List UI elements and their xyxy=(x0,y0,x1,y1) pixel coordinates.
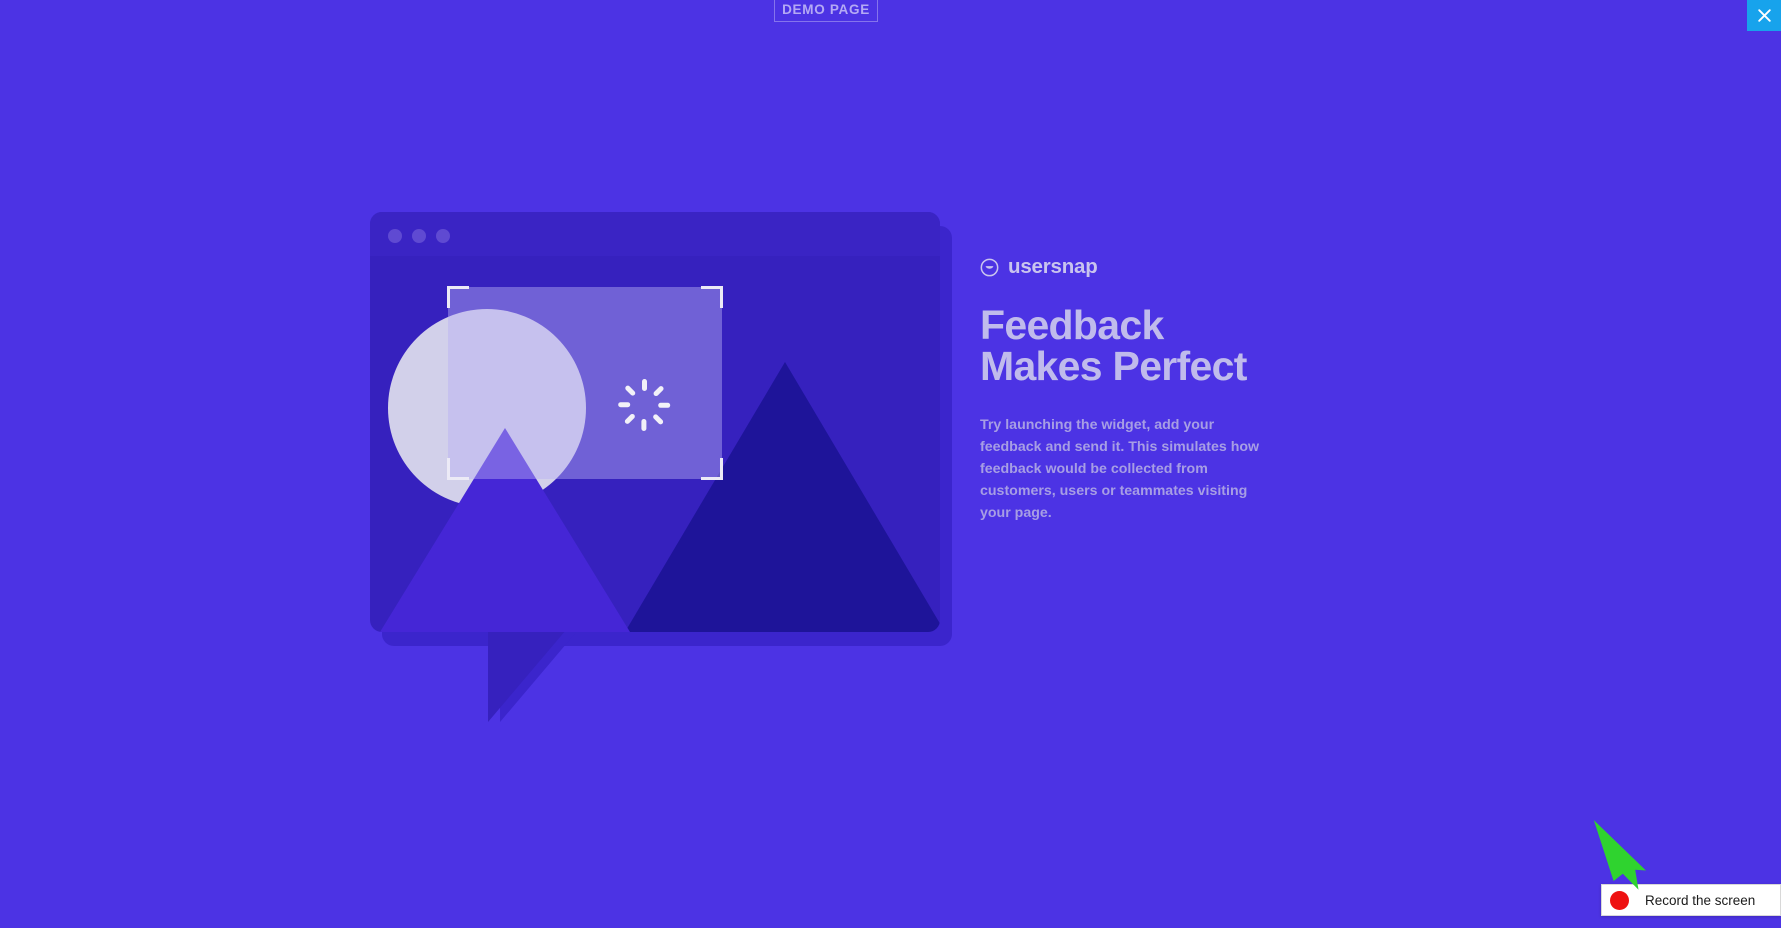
record-dot-icon xyxy=(1610,891,1629,910)
speech-bubble-tail xyxy=(488,630,566,722)
window-dot-maximize-icon xyxy=(436,229,450,243)
illustration-canvas xyxy=(370,256,940,632)
loading-spinner-icon xyxy=(616,377,672,433)
selection-corner-top-right-icon xyxy=(701,286,723,308)
headline-line-1: Feedback xyxy=(980,305,1310,346)
demo-page: DEMO PAGE xyxy=(0,0,1781,928)
window-dot-close-icon xyxy=(388,229,402,243)
brand-logo: usersnap xyxy=(980,255,1310,279)
selection-corner-bottom-right-icon xyxy=(701,458,723,480)
brand-name: usersnap xyxy=(1008,255,1098,279)
browser-titlebar xyxy=(370,212,940,256)
record-the-screen-button[interactable]: Record the screen xyxy=(1601,884,1781,916)
selection-corner-bottom-left-icon xyxy=(447,458,469,480)
browser-mockup-window xyxy=(370,212,940,632)
selection-corner-top-left-icon xyxy=(447,286,469,308)
window-dot-minimize-icon xyxy=(412,229,426,243)
record-the-screen-label: Record the screen xyxy=(1645,893,1755,908)
selection-rectangle xyxy=(448,287,722,479)
page-content: usersnap Feedback Makes Perfect Try laun… xyxy=(0,0,1781,928)
hero-text-column: usersnap Feedback Makes Perfect Try laun… xyxy=(980,255,1310,524)
hero-paragraph: Try launching the widget, add your feedb… xyxy=(980,414,1272,524)
page-title: Feedback Makes Perfect xyxy=(980,305,1310,387)
feedback-illustration xyxy=(370,212,940,702)
usersnap-smile-icon xyxy=(980,258,999,277)
headline-line-2: Makes Perfect xyxy=(980,346,1310,387)
